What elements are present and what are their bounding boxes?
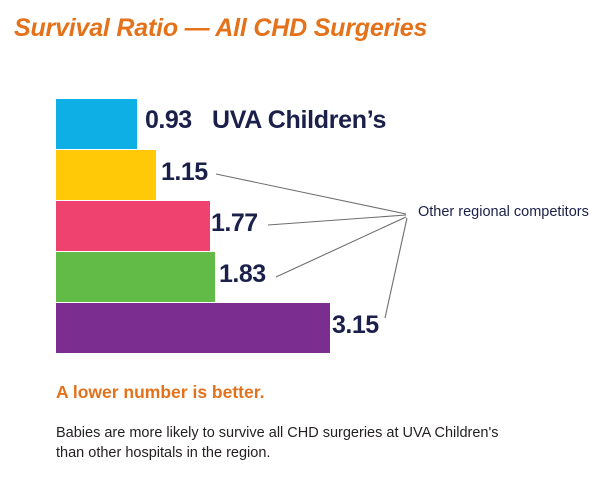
bar-2 bbox=[56, 201, 210, 251]
bar-4 bbox=[56, 303, 330, 353]
bar-value-label-0: 0.93 bbox=[145, 106, 192, 135]
bar-value-label-1: 1.15 bbox=[161, 158, 208, 187]
bar-3 bbox=[56, 252, 215, 302]
leader-line-3 bbox=[276, 217, 406, 277]
bar-1 bbox=[56, 150, 156, 200]
leader-line-4 bbox=[385, 218, 407, 318]
chart-page: Survival Ratio — All CHD Surgeries 0.93 … bbox=[0, 0, 600, 478]
bar-0 bbox=[56, 99, 137, 149]
bar-value-label-4: 3.15 bbox=[332, 311, 379, 340]
chart-plot-area: 0.93 UVA Children’s 1.15 1.77 1.83 3.15 … bbox=[0, 0, 600, 478]
footer-body-line-2: than other hospitals in the region. bbox=[56, 443, 566, 463]
footer-body-line-1: Babies are more likely to survive all CH… bbox=[56, 423, 566, 443]
footer-headline: A lower number is better. bbox=[56, 382, 264, 403]
leader-line-2 bbox=[268, 215, 406, 225]
bar-value-label-3: 1.83 bbox=[219, 260, 266, 289]
annotation-other-regional-competitors: Other regional competitors bbox=[418, 204, 589, 220]
bar-value-label-2: 1.77 bbox=[211, 209, 258, 238]
leader-line-1 bbox=[216, 174, 406, 214]
bar-series-label-0: UVA Children’s bbox=[212, 106, 386, 135]
footer-body: Babies are more likely to survive all CH… bbox=[56, 423, 566, 463]
